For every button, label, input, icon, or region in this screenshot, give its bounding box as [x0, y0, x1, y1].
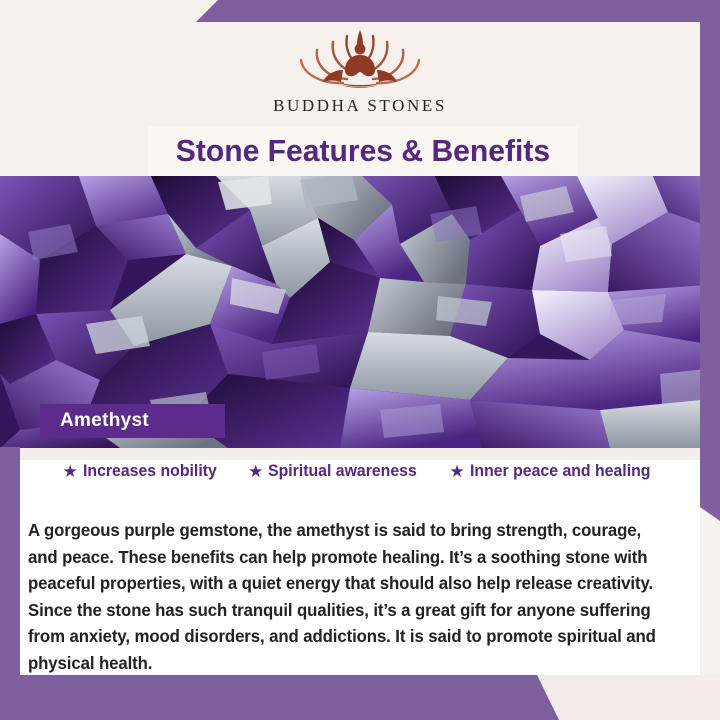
- decor-left-bar: [0, 447, 20, 675]
- panel-top-strip: [20, 448, 700, 460]
- stone-info-card: BUDDHA STONES Stone Features & Benefits …: [0, 0, 720, 720]
- star-icon: ★: [248, 463, 263, 480]
- benefit-item: ★ Spiritual awareness: [248, 462, 423, 481]
- benefit-item: ★ Inner peace and healing: [449, 462, 657, 481]
- benefit-label: Inner peace and healing: [470, 462, 650, 481]
- benefit-item: ★ Increases nobility: [62, 462, 222, 481]
- decor-top-right-bar: [196, 0, 720, 22]
- star-icon: ★: [62, 463, 77, 480]
- page-title: Stone Features & Benefits: [176, 133, 550, 169]
- stone-description: A gorgeous purple gemstone, the amethyst…: [28, 517, 671, 676]
- page-title-band: Stone Features & Benefits: [148, 126, 578, 176]
- decor-right-bar: [700, 0, 720, 521]
- brand-name: BUDDHA STONES: [0, 96, 720, 116]
- benefit-label: Increases nobility: [83, 462, 217, 481]
- stone-name-badge: Amethyst: [40, 404, 225, 438]
- brand-block: BUDDHA STONES: [0, 24, 720, 116]
- stone-name-label: Amethyst: [60, 410, 149, 432]
- lotus-meditation-figure-icon: [285, 24, 435, 92]
- benefit-label: Spiritual awareness: [268, 462, 417, 481]
- benefits-list: ★ Increases nobility ★ Spiritual awarene…: [20, 462, 700, 481]
- star-icon: ★: [449, 463, 464, 480]
- content-panel: ★ Increases nobility ★ Spiritual awarene…: [20, 448, 700, 675]
